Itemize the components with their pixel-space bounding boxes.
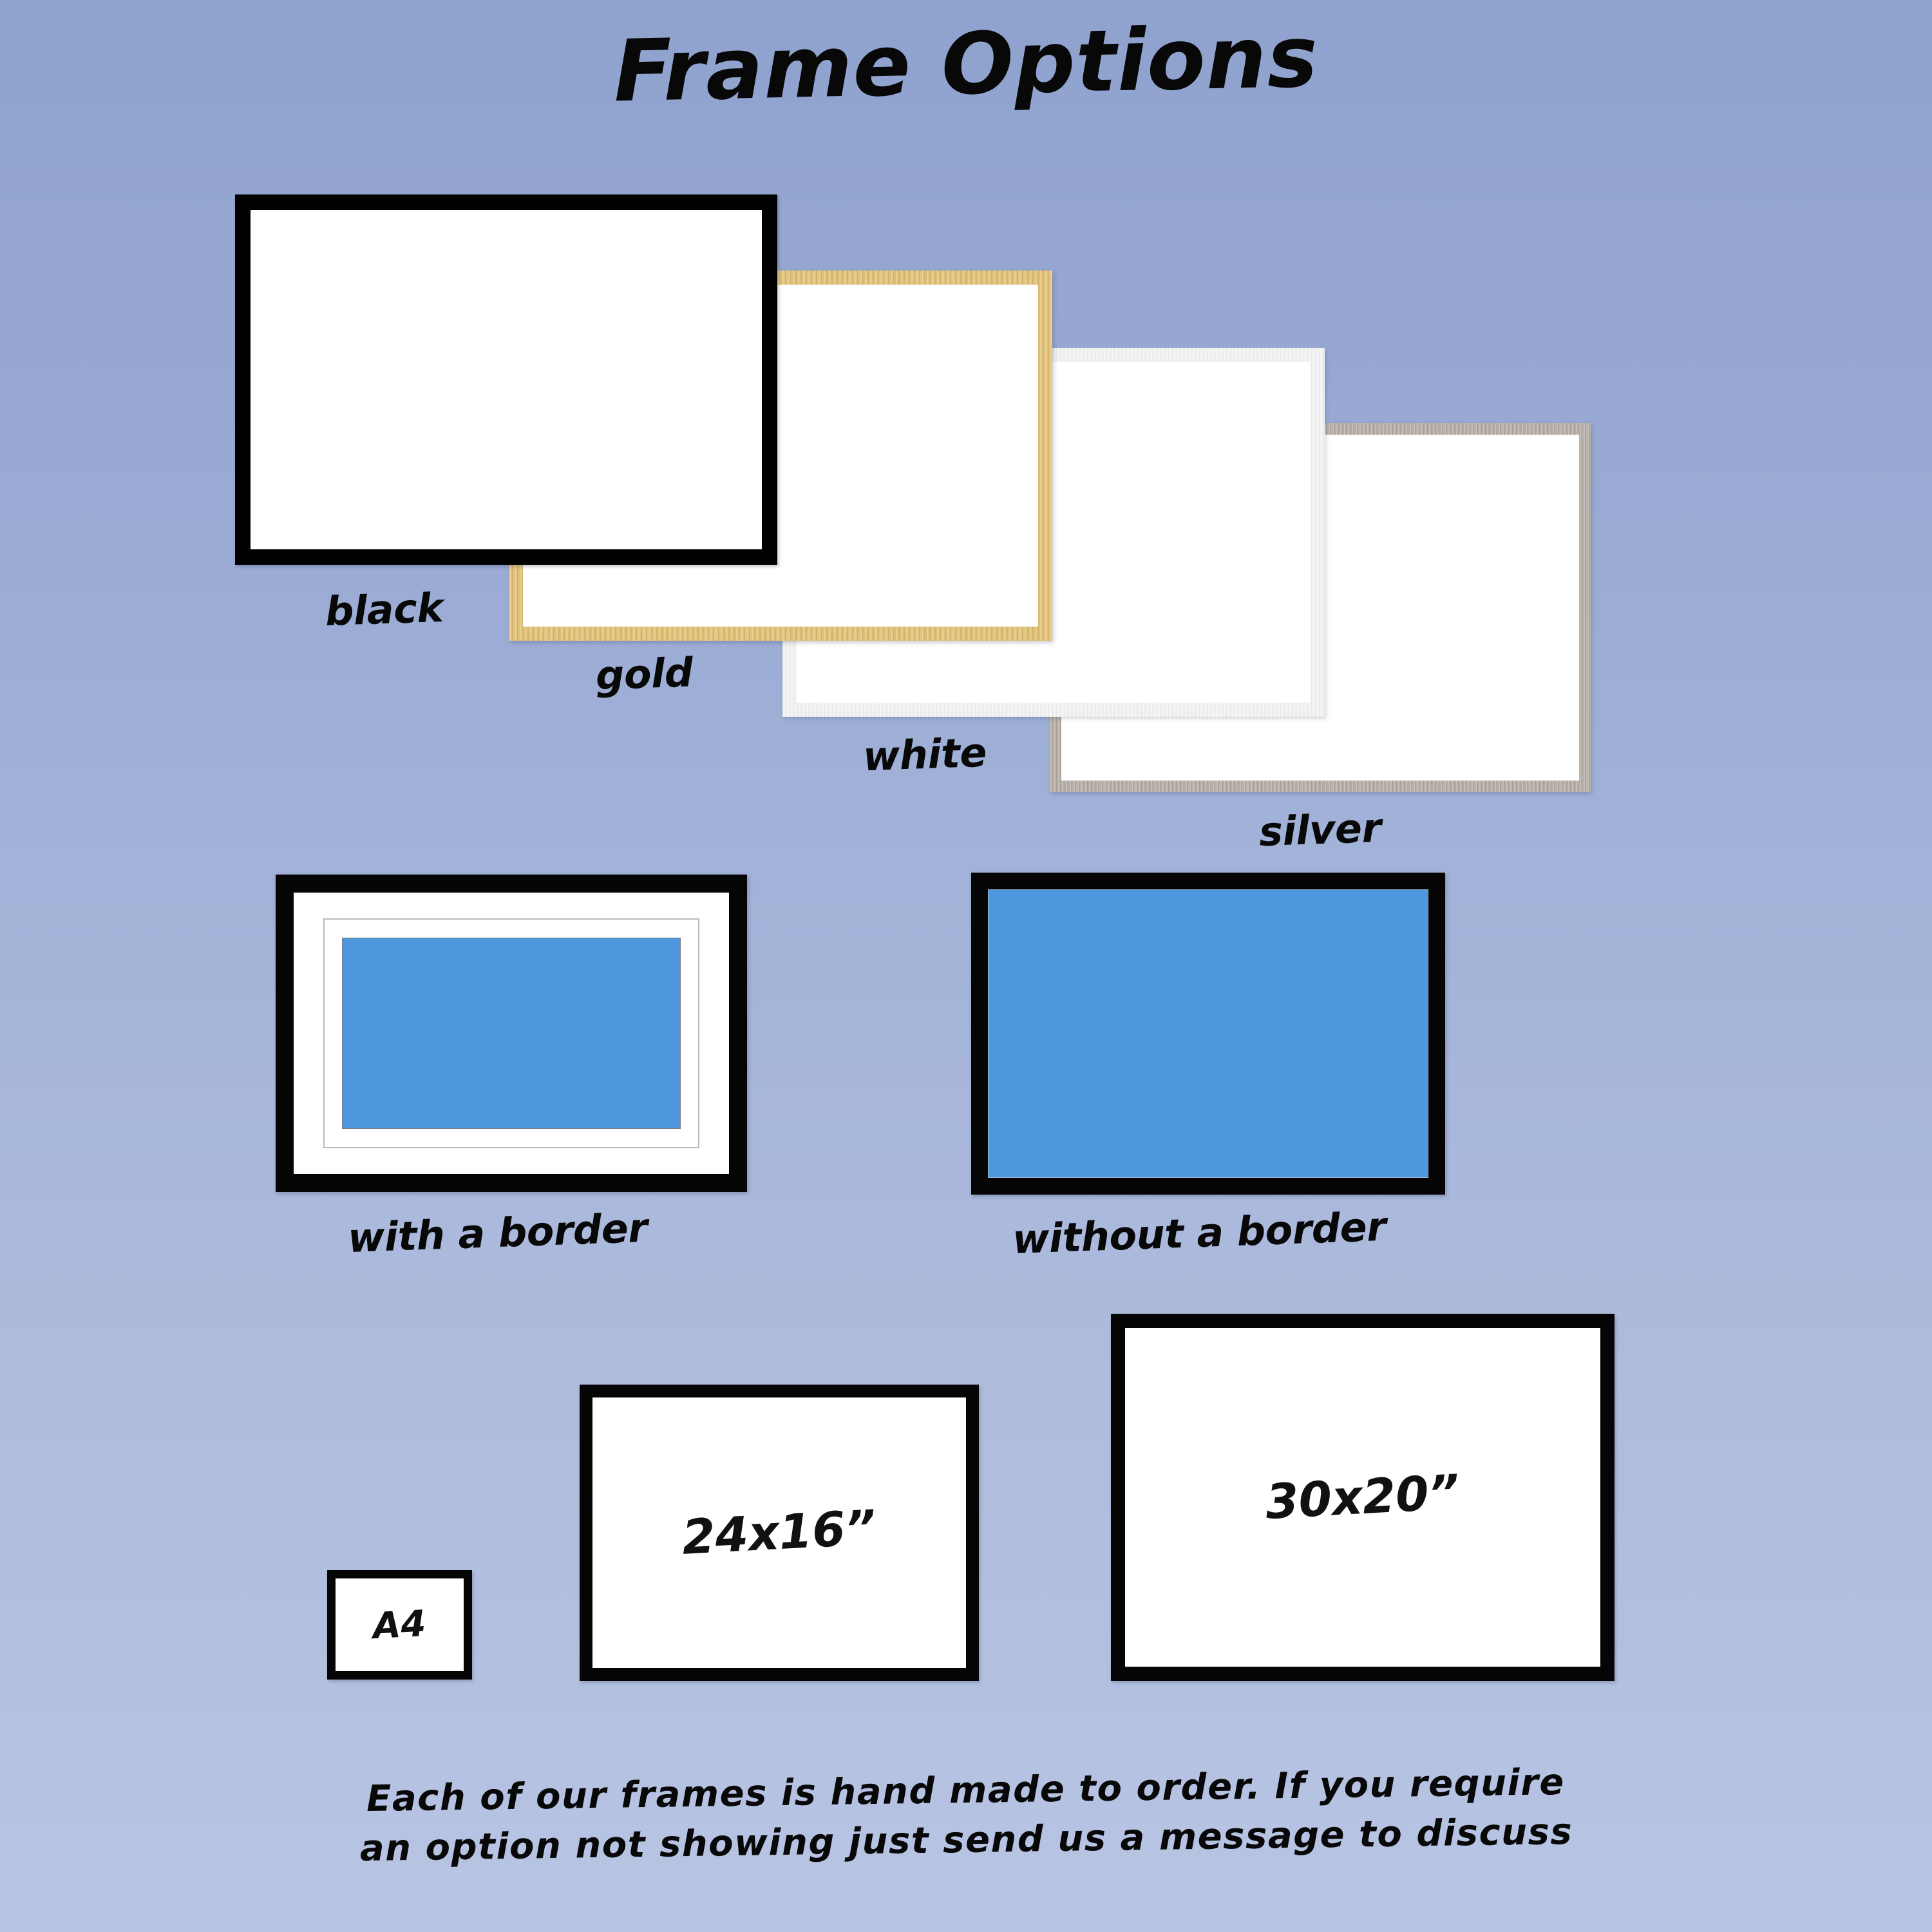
frame-size-30x20[interactable]: 30x20” xyxy=(1111,1314,1615,1681)
frame-sample-without-border[interactable] xyxy=(971,873,1445,1195)
frame-sample-black[interactable] xyxy=(235,194,777,565)
artwork-area-full xyxy=(988,889,1428,1178)
footer-note: Each of our frames is hand made to order… xyxy=(0,1752,1932,1879)
size-label-a4: A4 xyxy=(372,1602,428,1647)
frame-label-black: black xyxy=(325,584,444,635)
frame-label-gold: gold xyxy=(595,649,694,699)
artwork-area xyxy=(342,938,681,1129)
frame-label-silver: silver xyxy=(1258,804,1382,856)
frame-size-a4[interactable]: A4 xyxy=(327,1570,472,1680)
frame-label-without-border: without a border xyxy=(1012,1203,1387,1263)
page-title: Frame Options xyxy=(0,2,1932,128)
frame-sample-with-border[interactable] xyxy=(276,875,747,1192)
frame-size-24x16[interactable]: 24x16” xyxy=(580,1385,979,1681)
frame-label-with-border: with a border xyxy=(347,1204,649,1262)
size-label-30x20: 30x20” xyxy=(1264,1464,1461,1530)
frame-label-white: white xyxy=(862,729,987,781)
frame-options-poster: Frame Options black gold white silver wi… xyxy=(0,0,1932,1932)
size-label-24x16: 24x16” xyxy=(681,1500,877,1566)
